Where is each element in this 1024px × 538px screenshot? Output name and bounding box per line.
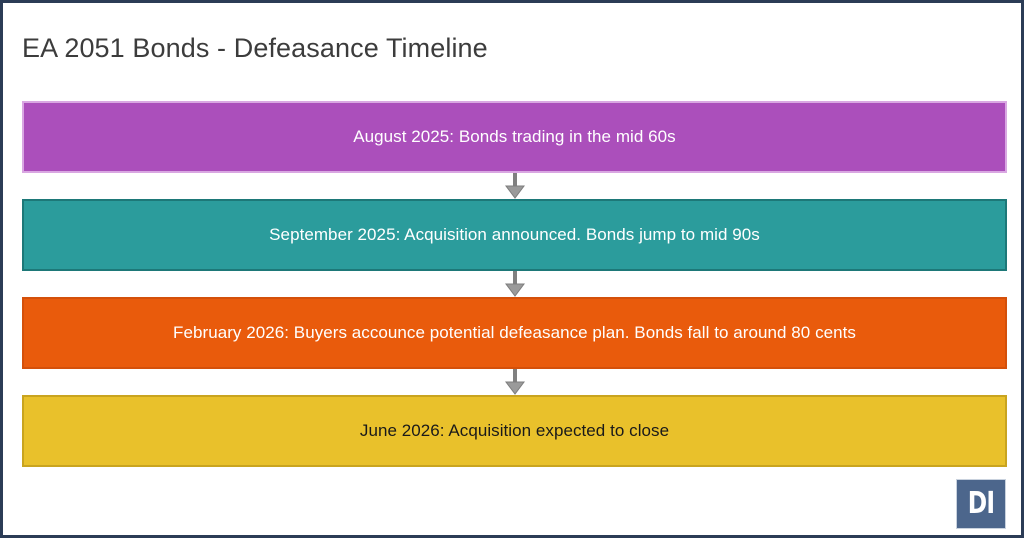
timeline-connector-3: [22, 369, 1007, 395]
arrow-down-icon: [504, 173, 526, 199]
timeline-step-4-label: June 2026: Acquisition expected to close: [346, 421, 683, 441]
timeline-step-3[interactable]: February 2026: Buyers accounce potential…: [22, 297, 1007, 369]
timeline-step-4[interactable]: June 2026: Acquisition expected to close: [22, 395, 1007, 467]
di-logo-text: DI: [968, 489, 995, 519]
timeline-connector-2: [22, 271, 1007, 297]
timeline-step-1-label: August 2025: Bonds trading in the mid 60…: [339, 127, 689, 147]
timeline-step-2-label: September 2025: Acquisition announced. B…: [255, 225, 774, 245]
timeline-container: August 2025: Bonds trading in the mid 60…: [22, 101, 1007, 467]
timeline-step-3-label: February 2026: Buyers accounce potential…: [159, 323, 870, 343]
timeline-step-2[interactable]: September 2025: Acquisition announced. B…: [22, 199, 1007, 271]
timeline-step-1[interactable]: August 2025: Bonds trading in the mid 60…: [22, 101, 1007, 173]
page-title: EA 2051 Bonds - Defeasance Timeline: [22, 33, 488, 64]
arrow-down-icon: [504, 271, 526, 297]
timeline-connector-1: [22, 173, 1007, 199]
arrow-down-icon: [504, 369, 526, 395]
di-logo: DI: [956, 479, 1006, 529]
slide-canvas: EA 2051 Bonds - Defeasance Timeline Augu…: [0, 0, 1024, 538]
